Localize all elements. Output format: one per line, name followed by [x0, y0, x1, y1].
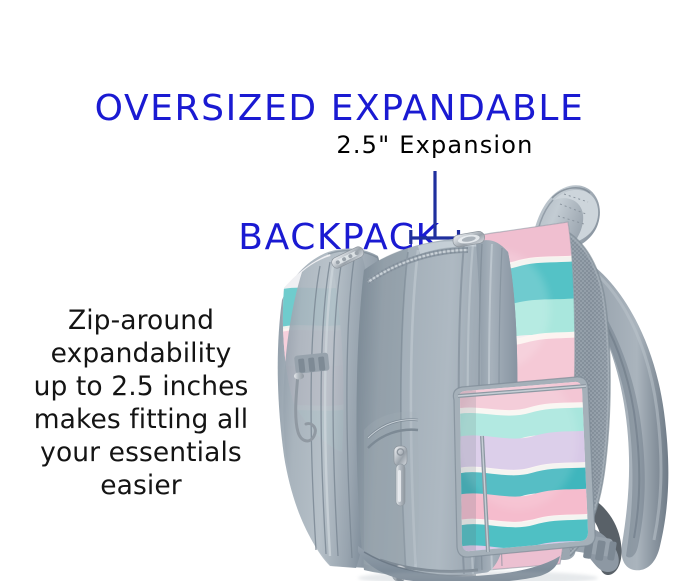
- page-title-line-1: OVERSIZED EXPANDABLE: [0, 86, 679, 130]
- product-callout-graphic: OVERSIZED EXPANDABLE BACKPACK Zip-around…: [0, 0, 679, 581]
- expansion-callout-label: 2.5" Expansion: [250, 131, 620, 159]
- feature-description: Zip-around expandability up to 2.5 inche…: [0, 304, 286, 502]
- side-zip-pocket: [364, 412, 419, 567]
- front-camo-pocket: [453, 370, 600, 565]
- backpack-product-image: [268, 160, 679, 581]
